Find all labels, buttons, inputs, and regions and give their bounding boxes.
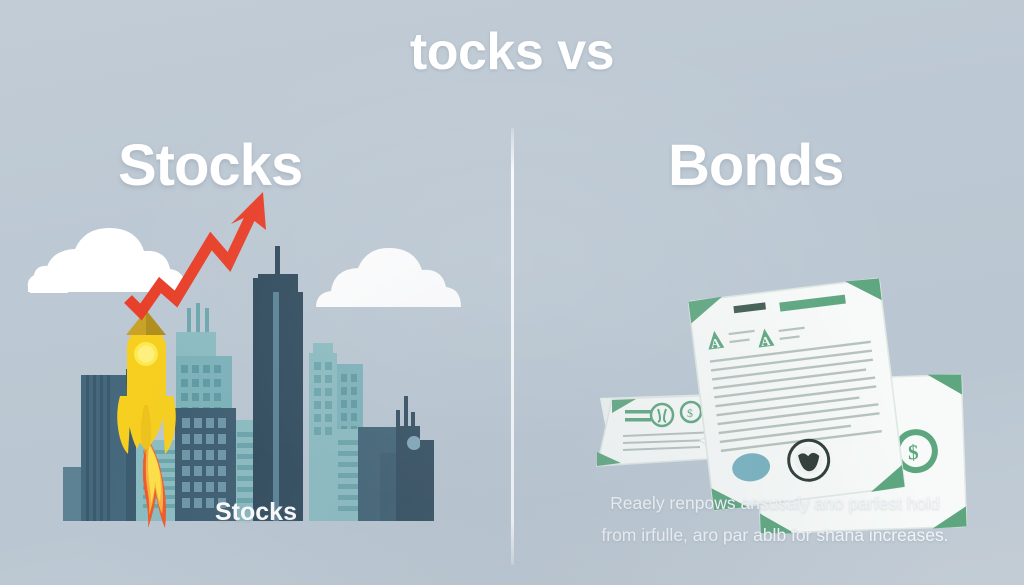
page-title: tocks vs [0, 22, 1024, 82]
bonds-heading: Bonds [668, 132, 843, 199]
svg-text:$: $ [908, 440, 919, 464]
stocks-heading: Stocks [118, 132, 302, 199]
bonds-caption: Reaely renpows ansusaly ano parfest hold… [540, 488, 1010, 552]
svg-text:$: $ [687, 406, 693, 420]
bonds-caption-line-1: Reaely renpows ansusaly ano parfest hold [540, 488, 1010, 520]
bonds-caption-line-2: from irfulle, aro par ablb for shana inc… [540, 520, 1010, 552]
stocks-caption: Stocks [0, 498, 512, 527]
infographic-canvas: $ [0, 0, 1024, 585]
certificate-icon: A A [688, 277, 904, 511]
